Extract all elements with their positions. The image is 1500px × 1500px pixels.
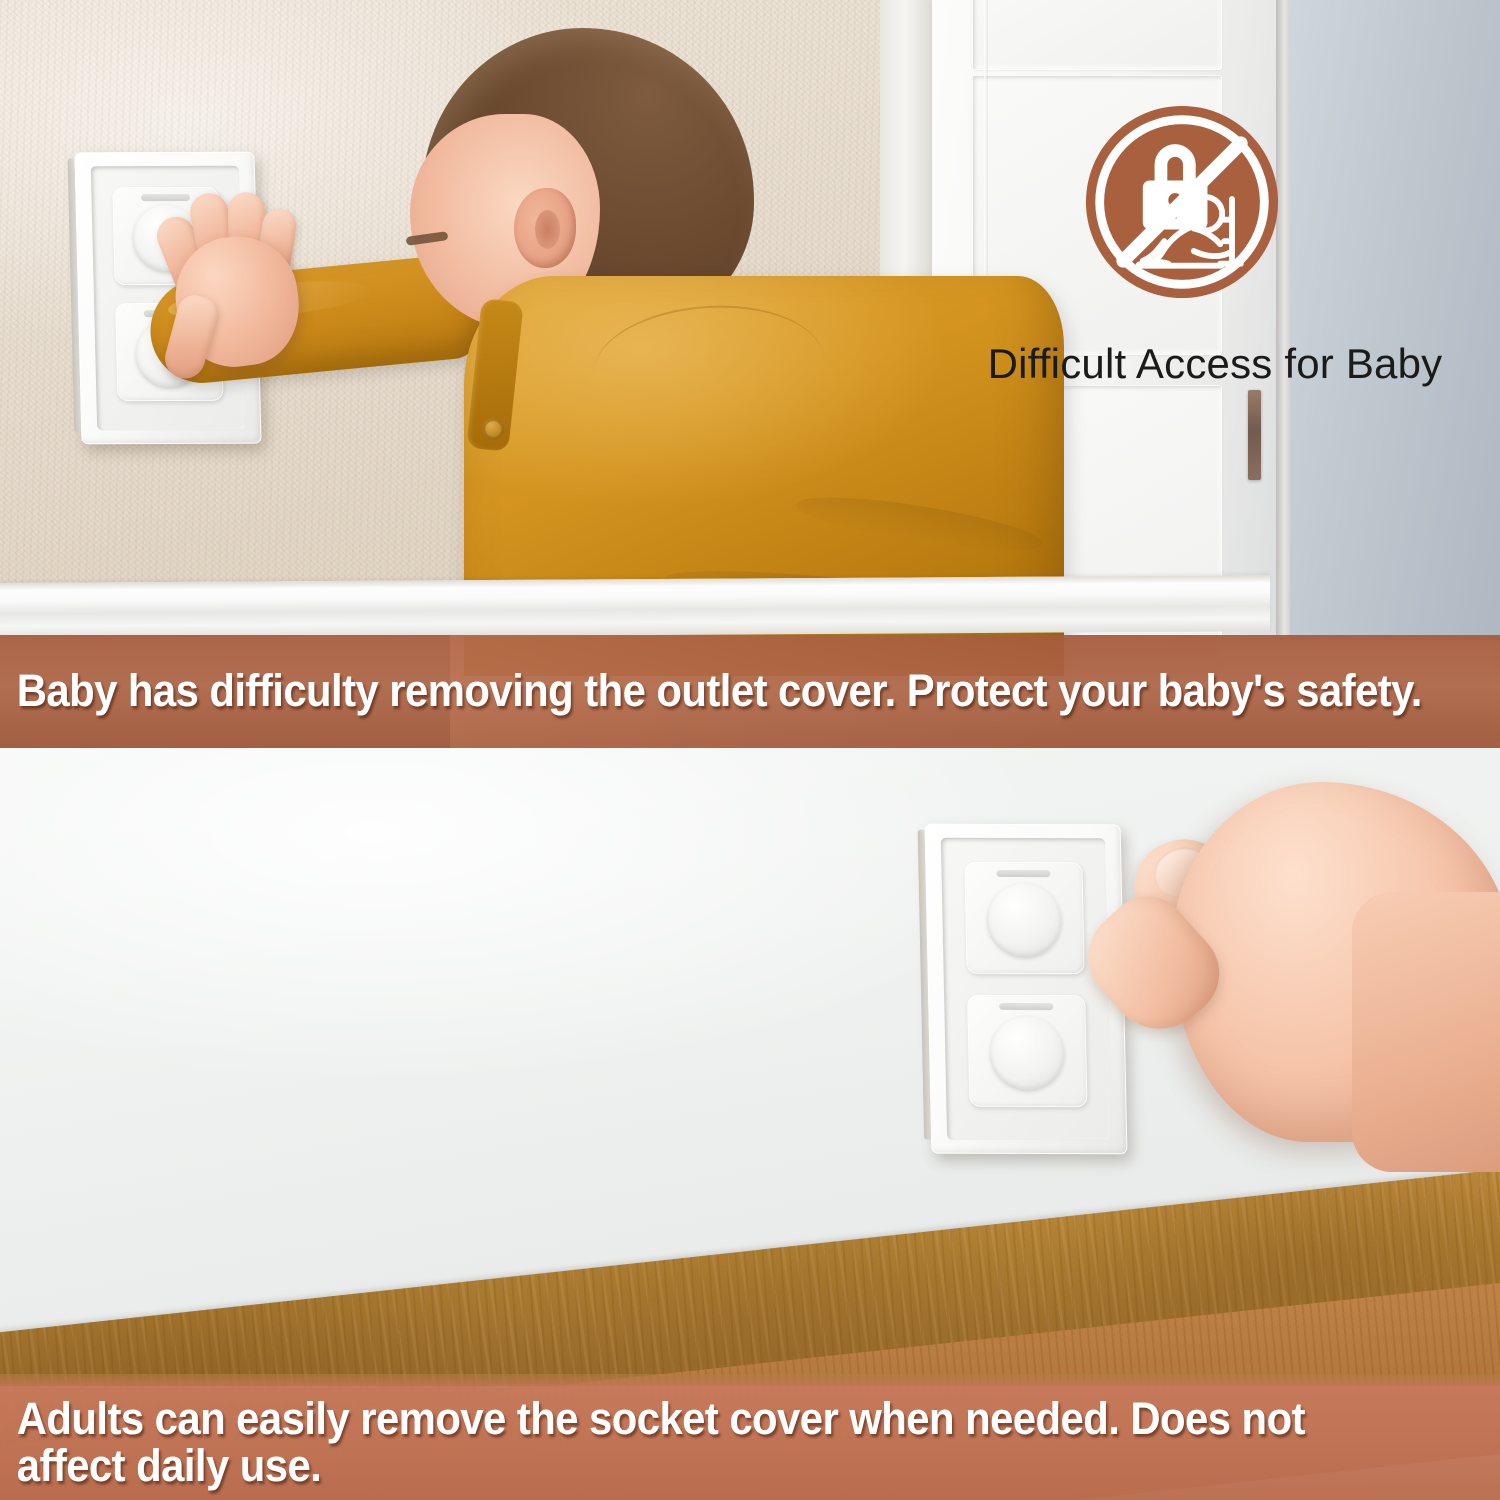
- adult-wrist: [1352, 892, 1500, 1172]
- product-feature-image: Difficult Access for Baby Baby has diffi…: [0, 0, 1500, 1500]
- banner-bottom-text: Adults can easily remove the socket cove…: [0, 1396, 1395, 1490]
- baby-figure: [402, 28, 1042, 648]
- adult-hand-removing-cover: [1022, 752, 1500, 1222]
- badge-label-difficult-access: Difficult Access for Baby: [955, 340, 1475, 388]
- no-baby-access-locked-icon: [1084, 104, 1280, 300]
- banner-bottom-message: Adults can easily remove the socket cove…: [0, 1386, 1500, 1500]
- wall-behind-door: [1290, 0, 1500, 640]
- shirt-snap-button: [481, 417, 505, 441]
- baseboard-trim-top: [0, 575, 1270, 639]
- banner-top-message: Baby has difficulty removing the outlet …: [0, 635, 1500, 748]
- door-hinge: [1248, 390, 1261, 480]
- banner-top-text: Baby has difficulty removing the outlet …: [0, 667, 1439, 716]
- shirt-fold: [793, 487, 1046, 562]
- door-gap: [1276, 0, 1290, 640]
- baby-hand: [127, 175, 321, 396]
- shirt-shoulder-seam: [590, 298, 828, 434]
- baby-ear: [514, 188, 576, 268]
- baby-eyebrow: [406, 231, 449, 246]
- shirt-shoulder-placket: [466, 298, 523, 452]
